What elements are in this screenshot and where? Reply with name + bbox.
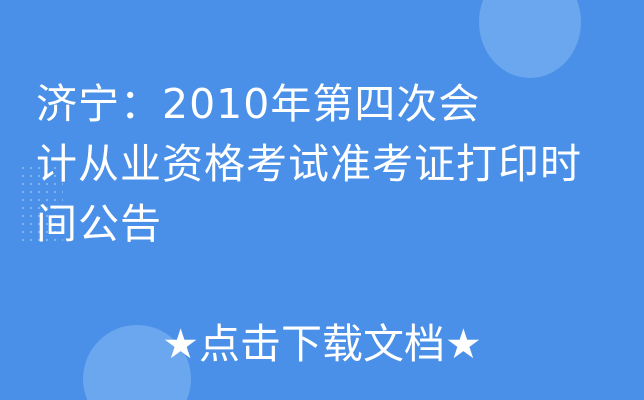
page-title-line-1: 济宁：2010年第四次会 bbox=[36, 74, 644, 134]
decorative-circle-top-right-icon bbox=[479, 0, 581, 78]
download-document-button-label: ★点击下载文档★ bbox=[162, 312, 482, 376]
document-thumbnail-poster: 济宁：2010年第四次会 计从业资格考试准考证打印时 间公告 ★点击下载文档★ bbox=[0, 0, 644, 400]
download-document-button[interactable]: ★点击下载文档★ bbox=[0, 312, 644, 376]
page-title: 济宁：2010年第四次会 计从业资格考试准考证打印时 间公告 bbox=[36, 74, 644, 254]
page-title-line-3: 间公告 bbox=[36, 194, 644, 254]
page-title-line-2: 计从业资格考试准考证打印时 bbox=[36, 134, 644, 194]
